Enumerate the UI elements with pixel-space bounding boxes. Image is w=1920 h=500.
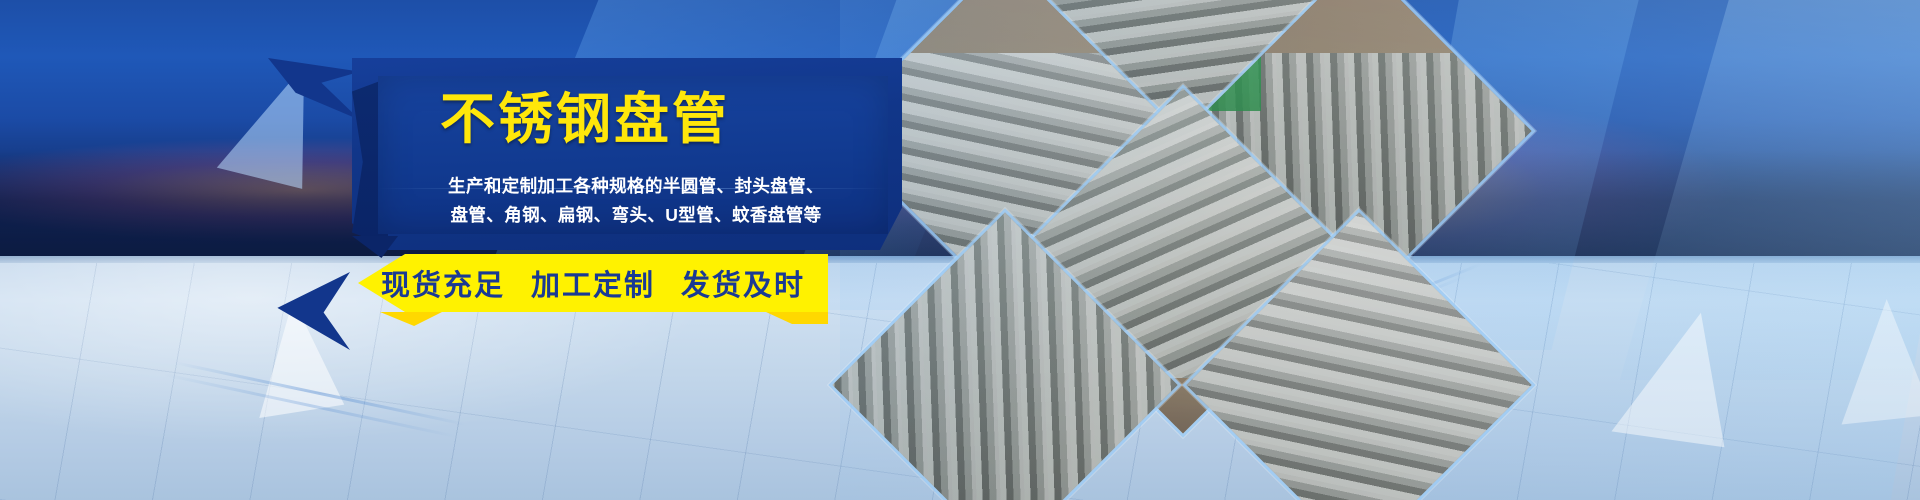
banner-subtitle-line-2: 盘管、角钢、扁钢、弯头、U型管、蚊香盘管等 [396,201,876,230]
product-hero-banner: 不锈钢盘管 生产和定制加工各种规格的半圆管、封头盘管、 盘管、角钢、扁钢、弯头、… [0,0,1920,500]
banner-title: 不锈钢盘管 [440,92,860,147]
slogan-text-group: 现货充足 加工定制 发货及时 [358,254,828,312]
banner-subtitle: 生产和定制加工各种规格的半圆管、封头盘管、 盘管、角钢、扁钢、弯头、U型管、蚊香… [396,172,876,230]
banner-subtitle-line-1: 生产和定制加工各种规格的半圆管、封头盘管、 [396,172,876,201]
product-photo-collage [840,0,1460,500]
slogan-item-2: 加工定制 [531,262,655,304]
slogan-item-1: 现货充足 [381,262,505,304]
slogan-ribbon: 现货充足 加工定制 发货及时 [358,254,828,322]
slogan-item-3: 发货及时 [681,262,805,304]
